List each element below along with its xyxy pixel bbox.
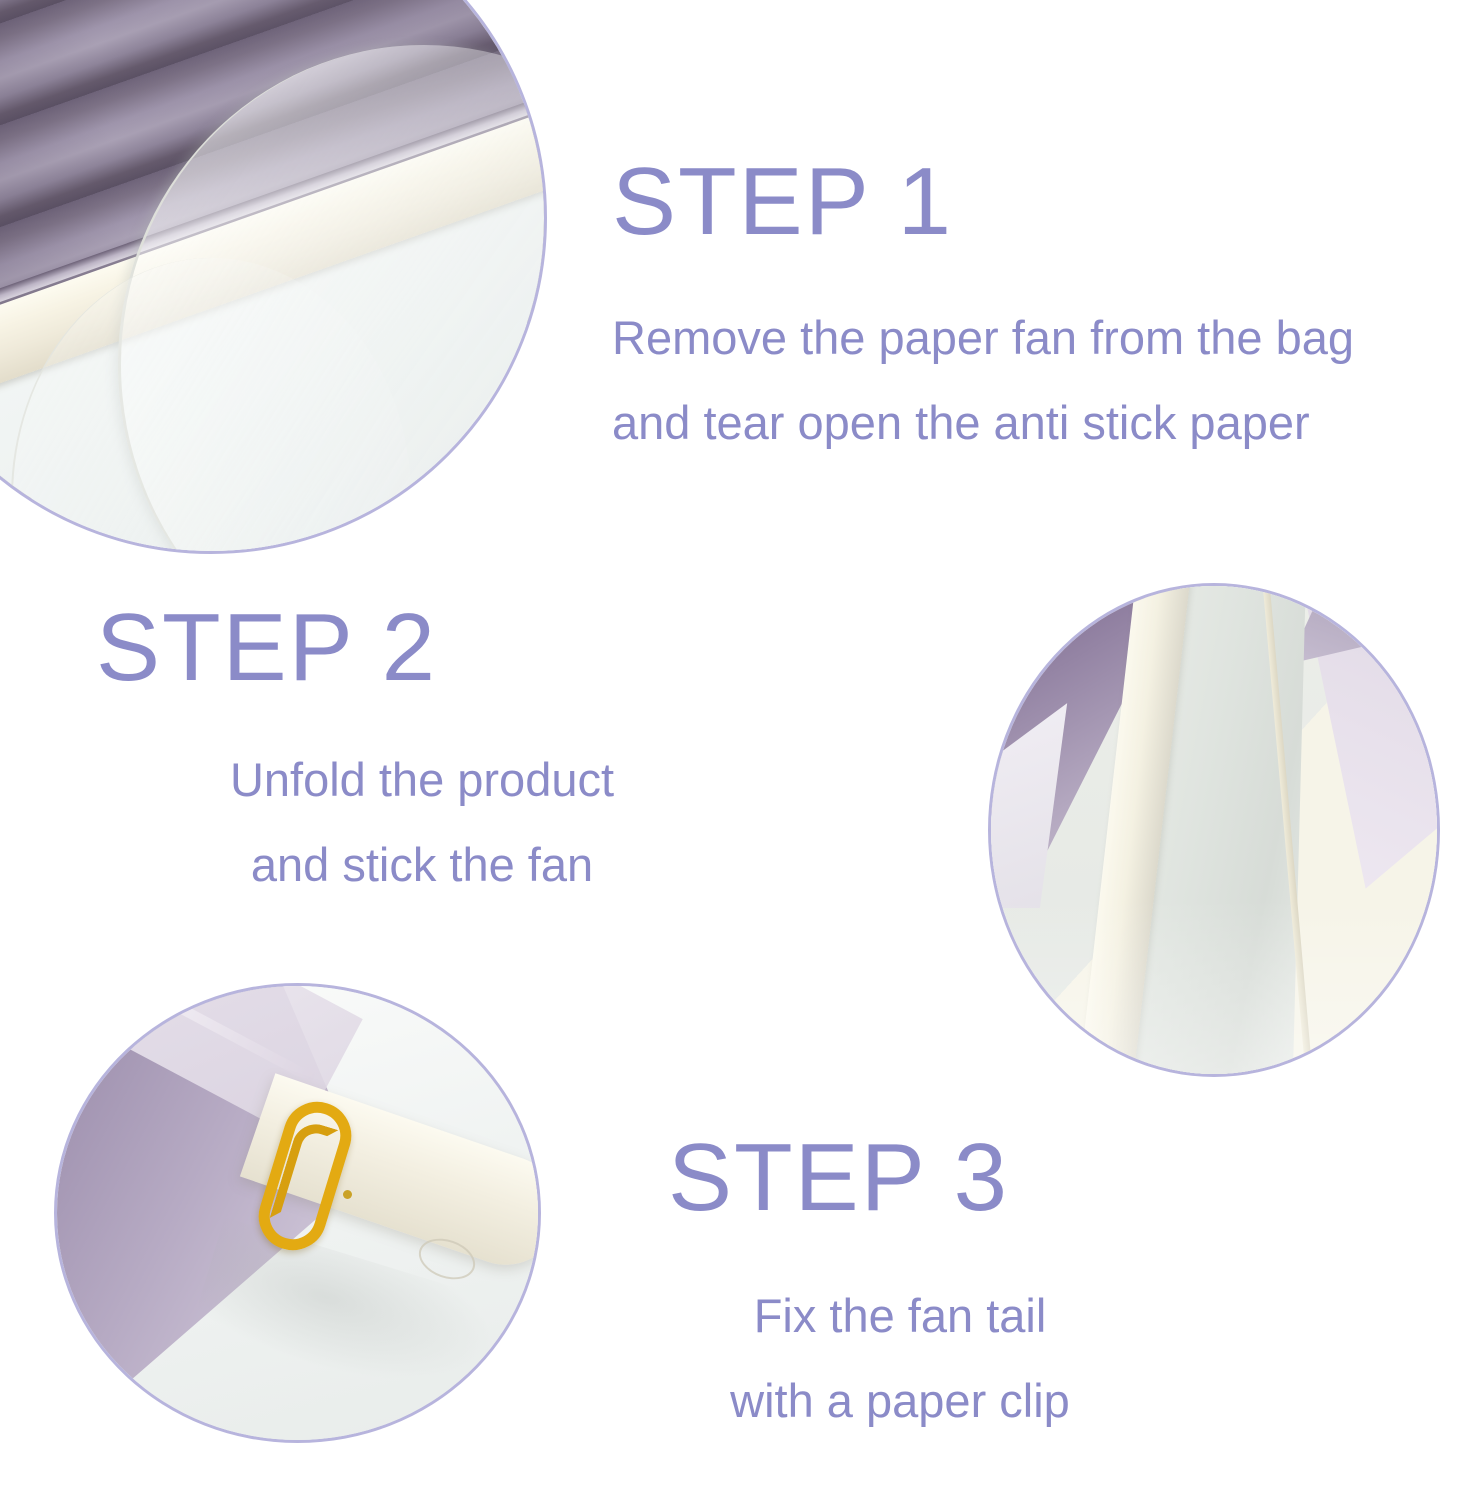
step3-photo-circle: [54, 983, 541, 1443]
step2-body-line-2: and stick the fan: [102, 822, 742, 908]
step2-body: Unfold the product and stick the fan: [102, 737, 742, 908]
step3-photo-content: [57, 986, 538, 1440]
step1-photo-content: [0, 0, 544, 551]
step1-body: Remove the paper fan from the bag and te…: [612, 295, 1354, 466]
instruction-graphic: STEP 1 Remove the paper fan from the bag…: [0, 0, 1459, 1500]
step2-body-line-1: Unfold the product: [102, 737, 742, 823]
step2-heading: STEP 2: [96, 598, 742, 699]
step1-photo-circle: [0, 0, 547, 554]
step1-body-line-1: Remove the paper fan from the bag: [612, 295, 1354, 381]
step3-body-line-2: with a paper clip: [620, 1358, 1180, 1444]
step2-photo-content: [991, 586, 1437, 1074]
step2-text-block: STEP 2 Unfold the product and stick the …: [96, 598, 742, 908]
bottom-light-glow: [991, 898, 1437, 1074]
step3-heading: STEP 3: [668, 1128, 1180, 1229]
step3-body: Fix the fan tail with a paper clip: [620, 1273, 1180, 1444]
step3-text-block: STEP 3 Fix the fan tail with a paper cli…: [668, 1128, 1180, 1444]
step2-photo-circle: [988, 583, 1440, 1077]
step1-heading: STEP 1: [612, 152, 1354, 253]
step3-body-line-1: Fix the fan tail: [620, 1273, 1180, 1359]
step1-text-block: STEP 1 Remove the paper fan from the bag…: [612, 152, 1354, 466]
step1-body-line-2: and tear open the anti stick paper: [612, 380, 1354, 466]
